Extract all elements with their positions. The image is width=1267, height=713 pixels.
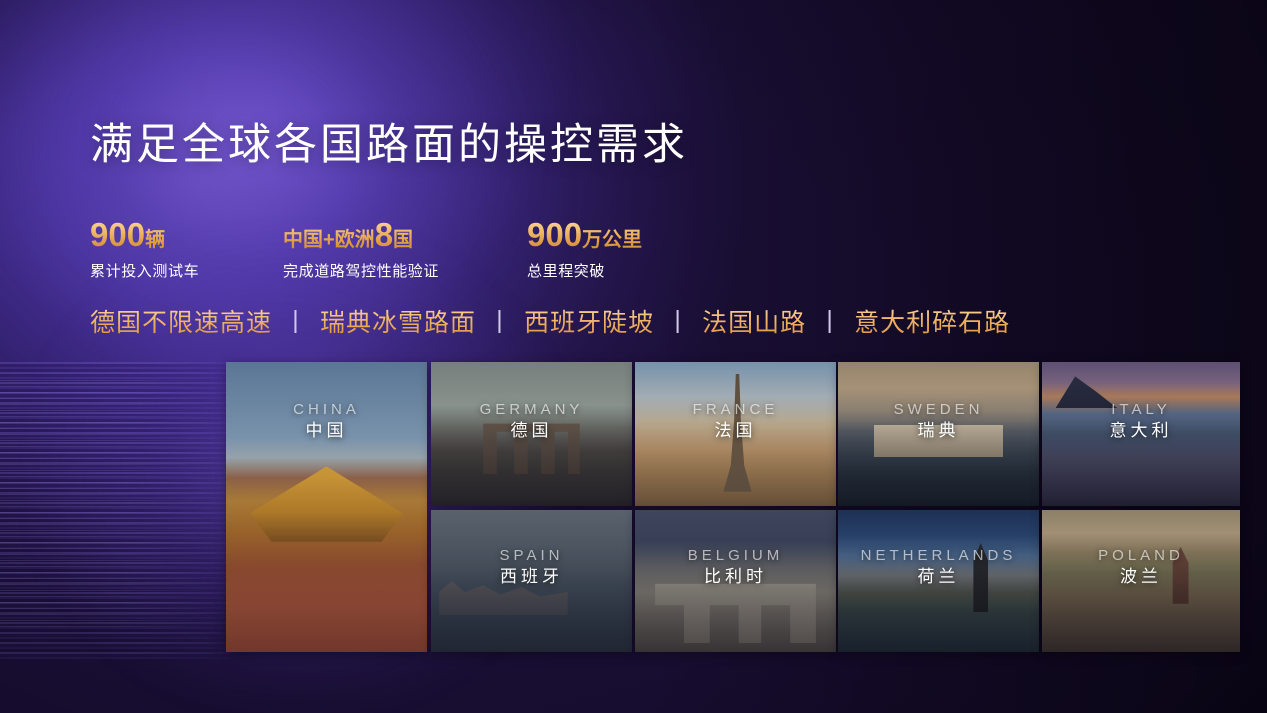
stat-block-test-vehicles: 900辆 累计投入测试车 [90, 218, 199, 281]
photo-shade [838, 510, 1039, 652]
road-type-separator: 丨 [283, 309, 309, 337]
road-type-separator: 丨 [817, 309, 843, 337]
road-type-item-4: 意大利碎石路 [854, 309, 1010, 337]
country-tile-belgium[interactable]: BELGIUM 比利时 [635, 510, 836, 652]
stat-value-prefix: 中国+欧洲 [283, 229, 375, 251]
stat-value-unit: 辆 [145, 229, 165, 251]
stat-value-number: 900 [527, 216, 582, 253]
stat-block-mileage: 900万公里 总里程突破 [527, 218, 642, 281]
photo-shade [1042, 510, 1240, 652]
road-type-item-2: 西班牙陡坡 [524, 309, 654, 337]
photo-shade [1042, 362, 1240, 506]
stat-label: 累计投入测试车 [90, 260, 199, 281]
stat-value-number: 8 [375, 216, 393, 253]
stat-value-unit: 国 [393, 229, 413, 251]
country-photo-grid: CHINA 中国 GERMANY 德国 FRANCE 法国 [226, 362, 1240, 654]
stat-value: 中国+欧洲8国 [283, 218, 439, 251]
presentation-slide: 满足全球各国路面的操控需求 900辆 累计投入测试车 中国+欧洲8国 完成道路驾… [0, 0, 1267, 713]
country-tile-italy[interactable]: ITALY 意大利 [1042, 362, 1240, 506]
photo-shade [431, 510, 632, 652]
photo-shade [226, 362, 427, 652]
country-tile-china[interactable]: CHINA 中国 [226, 362, 427, 652]
stat-value-unit: 万公里 [582, 229, 642, 251]
stat-label: 完成道路驾控性能验证 [283, 260, 439, 281]
stat-block-countries: 中国+欧洲8国 完成道路驾控性能验证 [283, 218, 439, 281]
photo-shade [838, 362, 1039, 506]
road-type-item-1: 瑞典冰雪路面 [320, 309, 476, 337]
road-types-list: 德国不限速高速丨瑞典冰雪路面丨西班牙陡坡丨法国山路丨意大利碎石路 [90, 303, 1010, 339]
photo-shade [635, 362, 836, 506]
page-title: 满足全球各国路面的操控需求 [90, 120, 688, 171]
slide-content: 满足全球各国路面的操控需求 900辆 累计投入测试车 中国+欧洲8国 完成道路驾… [0, 0, 1267, 713]
stat-label: 总里程突破 [527, 260, 642, 281]
country-tile-france[interactable]: FRANCE 法国 [635, 362, 836, 506]
stat-value-number: 900 [90, 216, 145, 253]
country-tile-netherlands[interactable]: NETHERLANDS 荷兰 [838, 510, 1039, 652]
road-type-item-0: 德国不限速高速 [90, 309, 272, 337]
photo-shade [635, 510, 836, 652]
country-tile-sweden[interactable]: SWEDEN 瑞典 [838, 362, 1039, 506]
stat-value: 900辆 [90, 218, 199, 251]
country-tile-germany[interactable]: GERMANY 德国 [431, 362, 632, 506]
country-tile-spain[interactable]: SPAIN 西班牙 [431, 510, 632, 652]
road-type-item-3: 法国山路 [702, 309, 806, 337]
road-type-separator: 丨 [487, 309, 513, 337]
road-type-separator: 丨 [665, 309, 691, 337]
photo-shade [431, 362, 632, 506]
stat-value: 900万公里 [527, 218, 642, 251]
country-tile-poland[interactable]: POLAND 波兰 [1042, 510, 1240, 652]
